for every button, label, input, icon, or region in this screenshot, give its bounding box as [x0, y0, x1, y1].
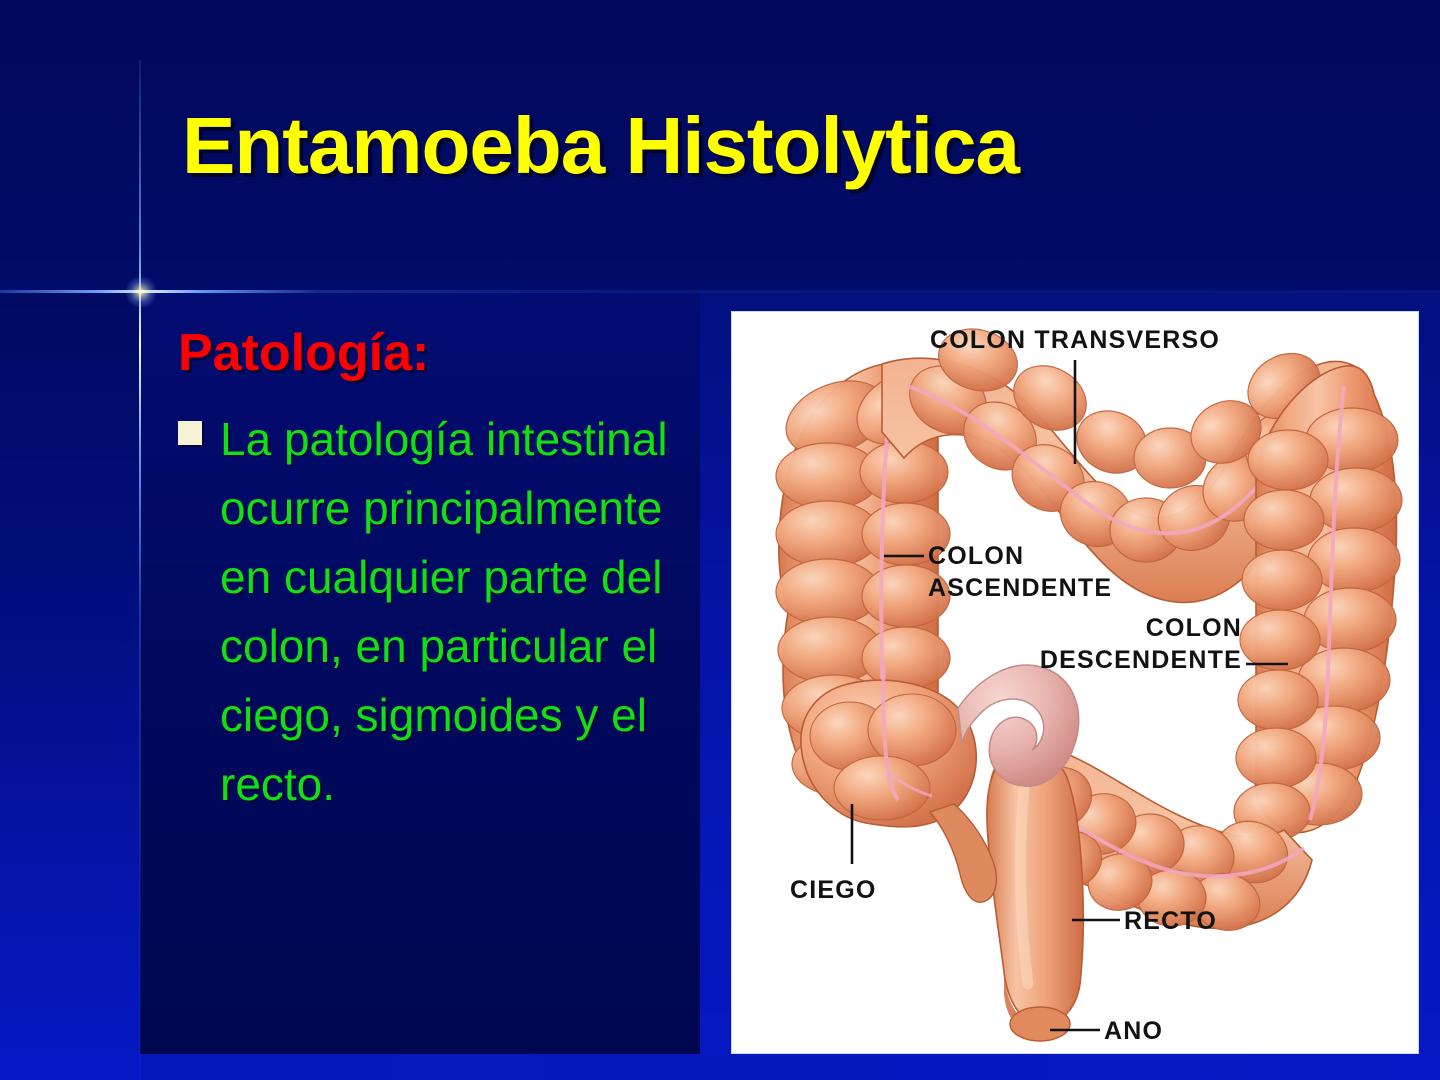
label-ciego-text: CIEGO — [790, 876, 877, 904]
label-ano-text: ANO — [1104, 1017, 1163, 1045]
large-intestine-illustration: COLON TRANSVERSO COLON ASCENDENTE COLON … — [732, 312, 1418, 1053]
square-bullet-icon — [178, 421, 202, 445]
label-colon-descendente-line1: COLON — [1146, 614, 1242, 642]
anatomy-figure-panel: COLON TRANSVERSO COLON ASCENDENTE COLON … — [732, 312, 1418, 1053]
horizontal-divider-glow — [0, 290, 1440, 293]
label-colon-ascendente-line1: COLON — [928, 542, 1024, 570]
body-content-column: Patología: La patología intestinal ocurr… — [178, 326, 688, 819]
slide-background-left-accent-column — [0, 292, 140, 1080]
sparkle-icon — [126, 277, 156, 307]
slide-background-bottom-left-strip — [0, 1054, 140, 1080]
presentation-slide: Entamoeba Histolytica Patología: La pato… — [0, 0, 1440, 1080]
label-colon-transverso-text: COLON TRANSVERSO — [930, 326, 1220, 354]
section-subheading: Patología: — [178, 326, 688, 381]
page-title: Entamoeba Histolytica — [182, 106, 1302, 186]
label-recto-text: RECTO — [1124, 907, 1217, 935]
slide-background-bottom-strip — [140, 1054, 1440, 1080]
bullet-text: La patología intestinal ocurre principal… — [220, 405, 688, 819]
vertical-divider-glow — [139, 60, 141, 1080]
label-colon-ascendente-line2: ASCENDENTE — [928, 574, 1112, 602]
label-colon-descendente-line2: DESCENDENTE — [1040, 646, 1242, 674]
list-item: La patología intestinal ocurre principal… — [178, 405, 688, 819]
